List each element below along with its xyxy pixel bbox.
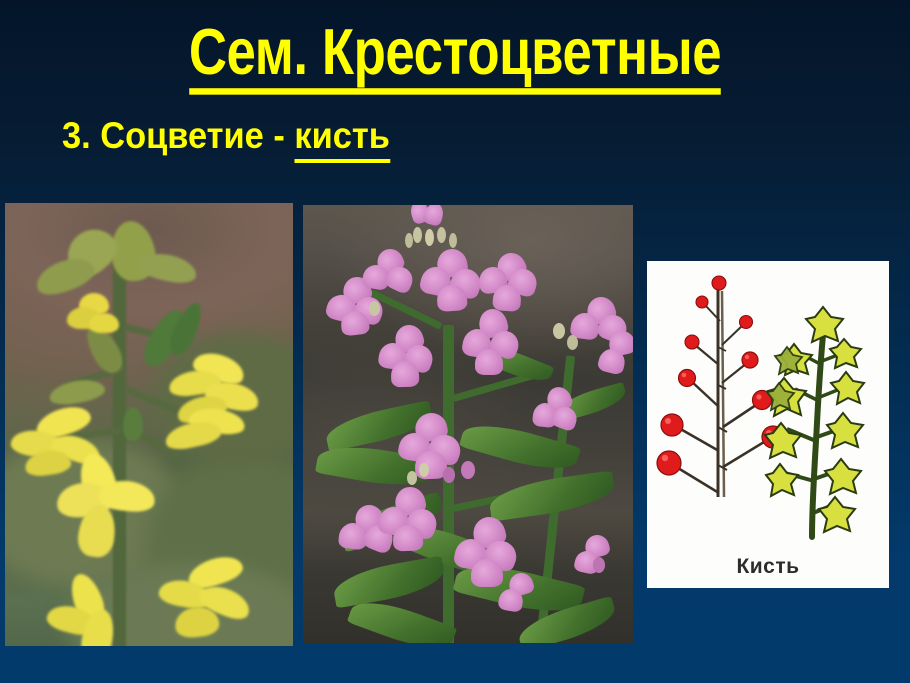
leaf bbox=[331, 556, 447, 609]
flower-bud bbox=[419, 463, 429, 477]
flower-bud bbox=[123, 407, 143, 441]
subtitle: 3. Соцветие - кисть bbox=[62, 114, 390, 163]
page-title: Сем. Крестоцветные bbox=[55, 18, 856, 95]
petal bbox=[89, 313, 119, 333]
flower-bud bbox=[437, 227, 446, 243]
flower-bud bbox=[553, 323, 565, 339]
petal bbox=[391, 361, 420, 388]
yellow-crucifer-photo bbox=[5, 203, 293, 646]
raceme-diagram-svg bbox=[647, 261, 889, 553]
flower-bud bbox=[413, 227, 422, 243]
petal bbox=[422, 205, 445, 227]
flower-bud bbox=[425, 229, 434, 246]
flower-bud bbox=[449, 233, 457, 248]
subtitle-prefix: 3. Соцветие - bbox=[62, 115, 294, 156]
raceme-diagram: Кисть bbox=[647, 261, 889, 588]
flower-bud bbox=[405, 233, 413, 248]
raceme-plant-drawing bbox=[765, 307, 864, 537]
diagram-label: Кисть bbox=[647, 555, 889, 579]
raceme-schematic bbox=[657, 276, 784, 497]
title-area: Сем. Крестоцветные 3. Соцветие - кисть bbox=[0, 0, 910, 185]
petal bbox=[471, 559, 503, 587]
plant-stem bbox=[443, 325, 454, 643]
flower-bud bbox=[407, 471, 417, 485]
flower-bud bbox=[567, 335, 578, 350]
petal bbox=[475, 349, 503, 375]
flower-bud bbox=[48, 376, 107, 407]
subtitle-term: кисть bbox=[294, 114, 390, 163]
page-title-text: Сем. Крестоцветные bbox=[189, 18, 721, 95]
flower-bud bbox=[369, 301, 380, 316]
petal bbox=[393, 524, 424, 551]
pink-hesperis-photo bbox=[303, 205, 633, 643]
flower-bud bbox=[443, 467, 455, 483]
flower-bud bbox=[461, 461, 475, 479]
flower-bud bbox=[593, 557, 605, 573]
